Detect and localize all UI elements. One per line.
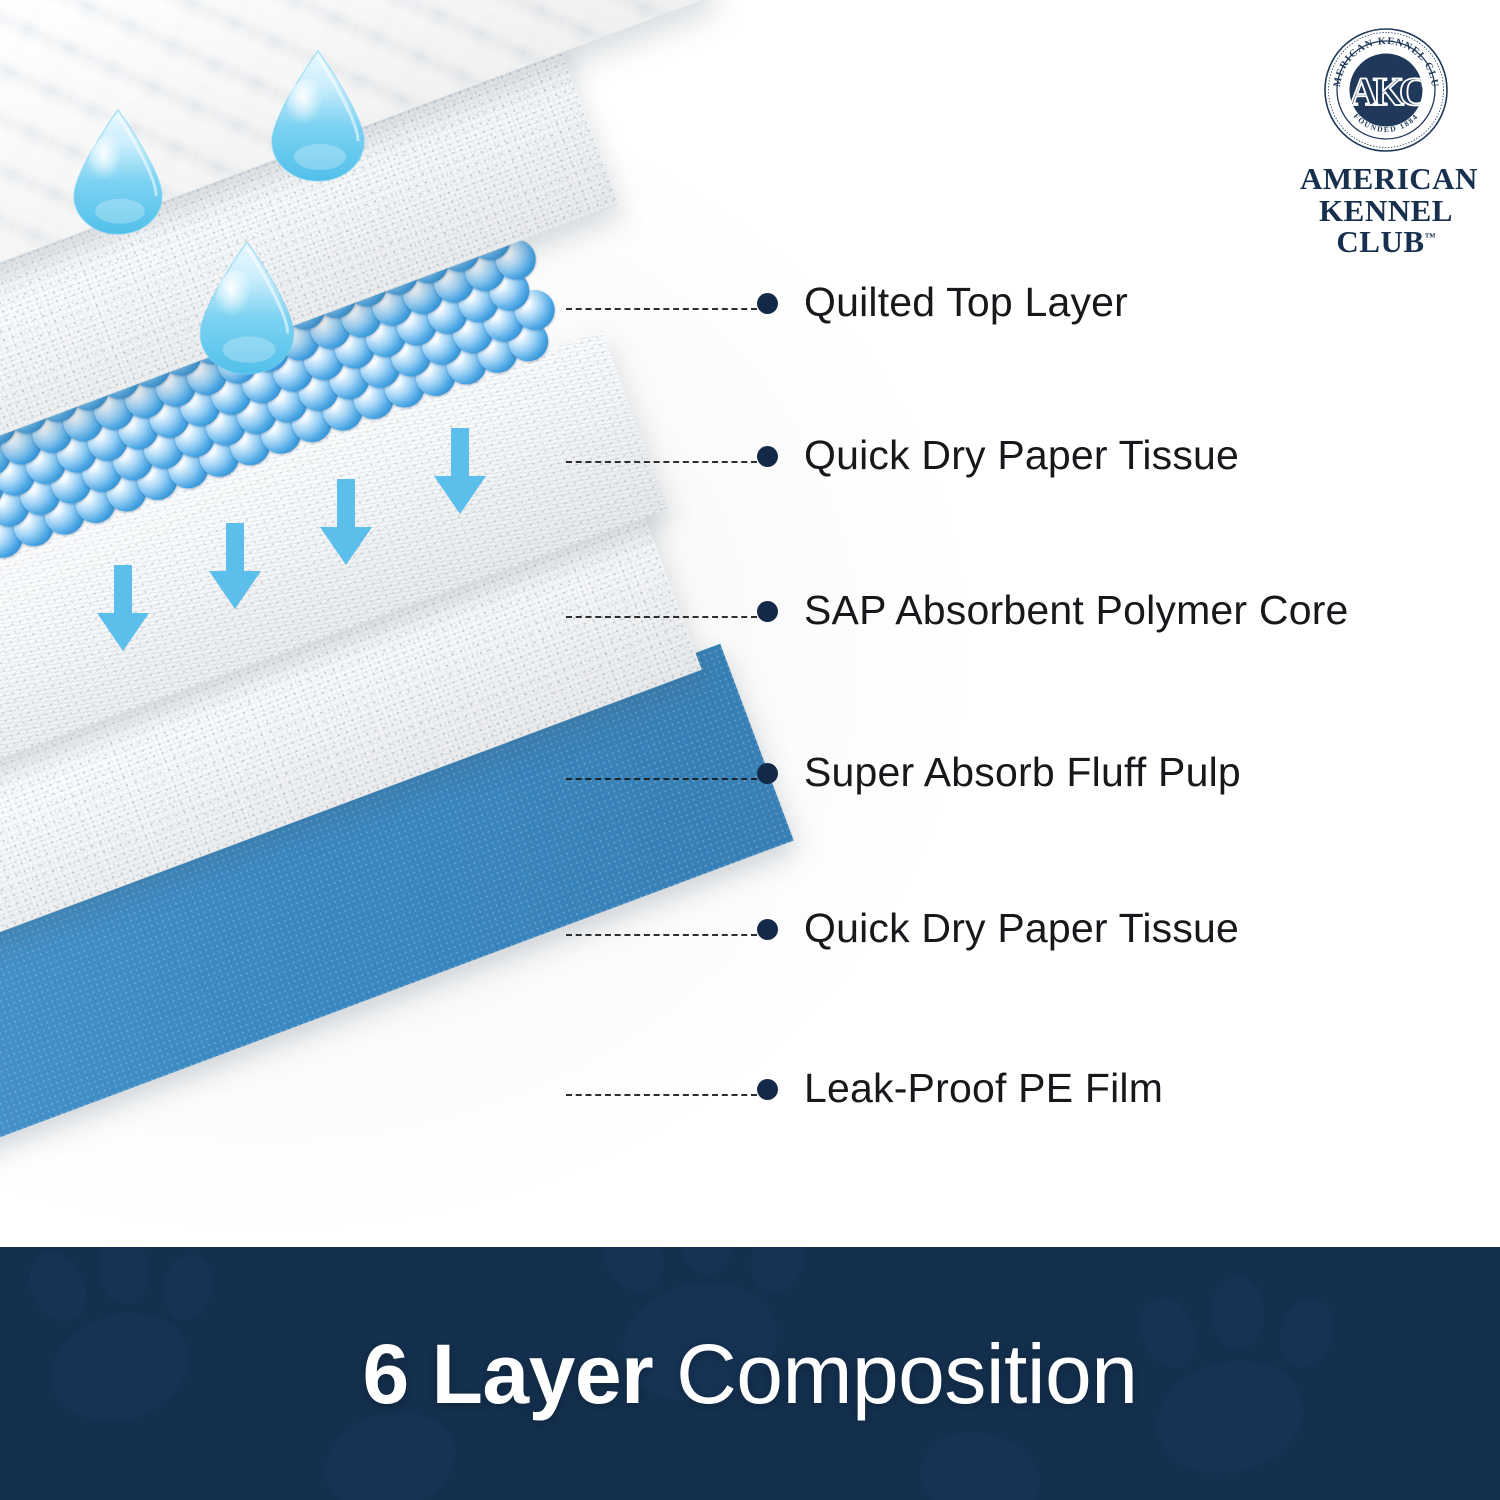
callout-label: SAP Absorbent Polymer Core [804,587,1349,634]
callout-label: Quilted Top Layer [804,279,1128,326]
down-arrow-icon [95,565,151,653]
callout-label: Super Absorb Fluff Pulp [804,749,1241,796]
callout-bullet-dot [757,919,778,940]
down-arrow-icon [207,523,263,611]
leader-line [566,616,757,618]
down-arrow-icon [318,479,374,567]
callout-row: Quilted Top Layer [566,279,1128,326]
footer-title-light: Composition [653,1327,1137,1421]
callout-bullet-dot [757,293,778,314]
footer-banner: 6 Layer Composition [0,1247,1500,1500]
callout-row: Leak-Proof PE Film [566,1065,1163,1112]
footer-title-bold: 6 Layer [363,1327,654,1421]
down-arrow-icon [432,428,488,516]
water-droplet-icon [196,240,298,376]
leader-line [566,778,757,780]
svg-text:AKC: AKC [1349,69,1425,114]
callout-row: Quick Dry Paper Tissue [566,905,1239,952]
leader-line [566,308,757,310]
water-droplet-icon [70,108,166,236]
water-droplet-icon [268,48,368,184]
akc-seal-icon: AMERICAN KENNEL CLUB FOUNDED 1884 ★ ★ AK… [1322,26,1450,154]
callout-row: Quick Dry Paper Tissue [566,432,1239,479]
akc-wordmark-line2: KENNEL CLUB™ [1300,195,1472,258]
callout-label: Leak-Proof PE Film [804,1065,1163,1112]
callout-bullet-dot [757,601,778,622]
akc-wordmark-line1: AMERICAN [1300,163,1472,195]
callout-bullet-dot [757,1079,778,1100]
callout-row: SAP Absorbent Polymer Core [566,587,1349,634]
leader-line [566,461,757,463]
callout-bullet-dot [757,446,778,467]
footer-title: 6 Layer Composition [363,1332,1138,1416]
trademark-symbol: ™ [1425,232,1436,244]
leader-line [566,1094,757,1096]
leader-line [566,934,757,936]
callout-label: Quick Dry Paper Tissue [804,432,1239,479]
akc-logo: AMERICAN KENNEL CLUB FOUNDED 1884 ★ ★ AK… [1300,26,1472,258]
infographic-canvas: Quilted Top LayerQuick Dry Paper TissueS… [0,0,1500,1500]
callout-label: Quick Dry Paper Tissue [804,905,1239,952]
callout-row: Super Absorb Fluff Pulp [566,749,1241,796]
callout-bullet-dot [757,763,778,784]
